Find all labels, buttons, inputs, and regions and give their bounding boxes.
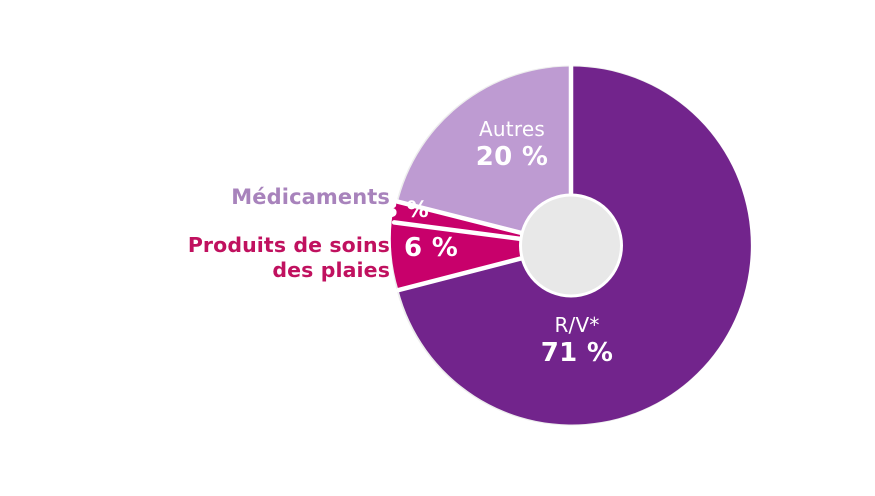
callout-label-medicaments: Médicaments — [140, 185, 390, 211]
donut-hole-fill — [522, 197, 620, 295]
donut-chart: Autres 20 % R/V* 71 % 3 % 6 % Médicament… — [0, 0, 875, 496]
callout-label-produits-soins-plaies: Produits de soins des plaies — [110, 233, 390, 283]
